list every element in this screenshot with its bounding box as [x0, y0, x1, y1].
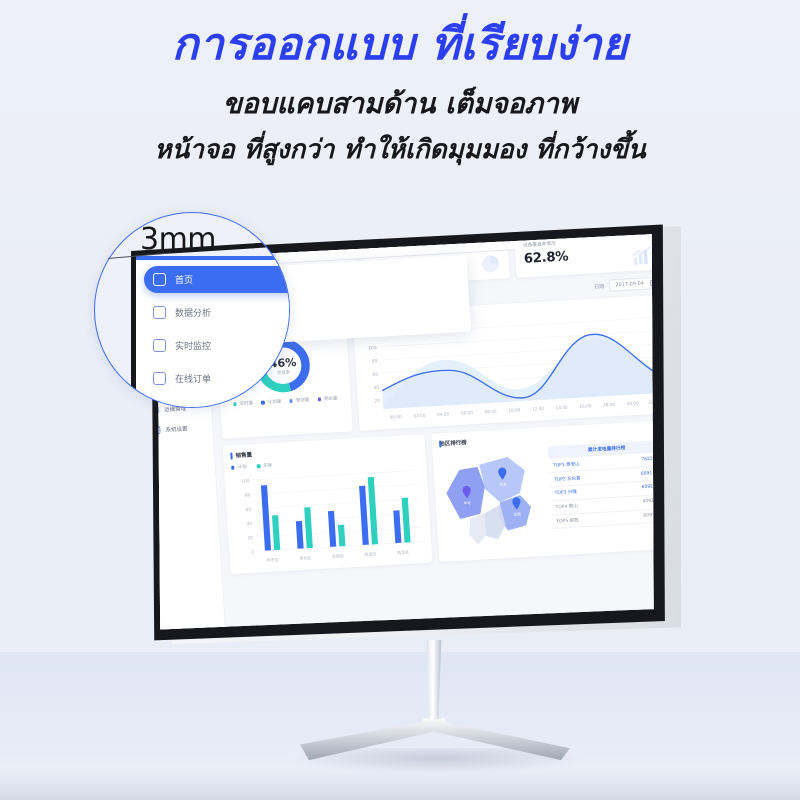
svg-text:08:00: 08:00: [484, 409, 497, 415]
stand-base-right-leg: [418, 716, 570, 762]
measurement-label: 3mm: [140, 222, 216, 257]
home-icon: [153, 273, 166, 286]
loupe-sidebar-item-order[interactable]: 在线订单: [144, 365, 290, 392]
bar-chart-svg: 10080 6040 200: [232, 462, 425, 570]
svg-text:80: 80: [245, 492, 251, 498]
map-marker-label: 华北: [464, 500, 472, 505]
legend-label: 计划: [238, 464, 247, 471]
map-marker-label: 华东: [499, 482, 507, 487]
svg-text:100: 100: [368, 345, 377, 352]
rank-name: TOP3 兴隆: [555, 489, 578, 496]
legend-label: 预测量: [296, 397, 310, 404]
bar-deco-icon: [629, 244, 655, 266]
legend-dot: [317, 398, 321, 402]
bottom-panel-row: 销售量 计划 实际: [223, 420, 664, 574]
sidebar-item-label: 在线订单: [175, 372, 211, 385]
svg-text:80: 80: [372, 358, 378, 364]
svg-text:华东区: 华东区: [266, 556, 279, 563]
map-inner: 华北 华东 华南 累计发电量排行榜 TOP1 泰安山 76229kw: [440, 440, 664, 551]
svg-text:20:00: 20:00: [627, 400, 640, 406]
svg-text:40: 40: [373, 385, 379, 391]
svg-text:0: 0: [251, 549, 254, 555]
loupe-sidebar-item-device[interactable]: 设备管理: [144, 398, 290, 408]
pie-deco-icon: [478, 253, 504, 275]
svg-text:华北区: 华北区: [299, 554, 312, 561]
svg-text:西北区: 西北区: [397, 549, 410, 556]
loupe-sidebar-item-monitor[interactable]: 实时监控: [144, 332, 290, 359]
svg-text:02:00: 02:00: [413, 413, 426, 419]
loupe-screen: 首页 数据分析 实时监控 在线订单 设备管理: [136, 256, 290, 408]
rank-name: TOP4 鞍山: [555, 503, 578, 510]
map-marker-label: 华南: [513, 511, 521, 516]
map-panel: 地区排行榜: [431, 420, 664, 562]
svg-text:10:00: 10:00: [508, 407, 521, 413]
svg-text:20: 20: [247, 535, 253, 541]
bar-series-plan: [261, 478, 401, 551]
floor-shadow: [0, 770, 800, 800]
headline-block: การออกแบบ ที่เรียบง่าย ขอบแคบสามด้าน เต็…: [0, 18, 800, 168]
legend-dot: [289, 399, 293, 403]
subtitle-line-1: ขอบแคบสามด้าน เต็มจอภาพ: [0, 86, 800, 122]
rank-name: TOP1 泰安山: [553, 461, 580, 469]
loupe-sidebar-item-analytics[interactable]: 数据分析: [144, 299, 290, 326]
sidebar-item-label: 实时监控: [175, 339, 211, 352]
region-map-svg[interactable]: 华北 华东 华南: [440, 447, 548, 551]
svg-text:100: 100: [241, 478, 250, 484]
svg-text:12:00: 12:00: [532, 406, 545, 412]
legend-label: 实际: [263, 462, 272, 469]
rank-name: TOP5 邮政: [556, 517, 579, 524]
bar-chart-panel: 销售量 计划 实际: [223, 434, 433, 574]
rank-name: TOP2 东台县: [554, 475, 581, 483]
svg-text:西南区: 西南区: [364, 550, 377, 557]
svg-text:40: 40: [246, 521, 252, 527]
svg-text:14:00: 14:00: [556, 404, 569, 410]
monitor-icon: [153, 339, 166, 352]
svg-text:06:00: 06:00: [461, 410, 474, 416]
sidebar-item-label: 首页: [175, 273, 193, 286]
legend-dot: [257, 464, 261, 468]
analytics-icon: [153, 306, 166, 319]
svg-text:60: 60: [246, 507, 252, 513]
svg-text:00:00: 00:00: [390, 414, 403, 420]
legend-label: 剩余量: [324, 395, 338, 402]
subtitle-line-2: หน้าจอ ที่สูงกว่า ทำให้เกิดมุมมอง ที่กว้…: [0, 134, 800, 168]
loupe-sidebar-item-home[interactable]: 首页: [144, 266, 290, 293]
ranking-table: 累计发电量排行榜 TOP1 泰安山 76229kw TOP2 东台县 6091.…: [548, 440, 664, 544]
legend-dot: [231, 466, 235, 470]
date-label: 日期: [594, 282, 605, 290]
legend-item[interactable]: 剩余量: [317, 395, 337, 402]
svg-text:60: 60: [373, 371, 379, 377]
sidebar-item-label: 数据分析: [175, 306, 211, 319]
sidebar-item-settings[interactable]: 系统设置: [152, 419, 207, 439]
svg-text:华南区: 华南区: [332, 552, 345, 559]
legend-item[interactable]: 预测量: [289, 397, 309, 404]
monitor-stand-base: [300, 716, 570, 764]
svg-text:18:00: 18:00: [603, 402, 616, 408]
page-title: การออกแบบ ที่เรียบง่าย: [0, 18, 800, 72]
sidebar-item-label: 系统设置: [165, 424, 187, 433]
date-value: 2017-09-04: [615, 281, 644, 288]
svg-text:16:00: 16:00: [579, 403, 592, 409]
map-region-5: [468, 513, 486, 544]
svg-text:20: 20: [374, 398, 380, 404]
order-icon: [153, 372, 166, 385]
svg-text:04:00: 04:00: [437, 411, 450, 417]
legend-item[interactable]: 计划: [231, 464, 247, 471]
legend-item[interactable]: 实际: [257, 462, 273, 469]
